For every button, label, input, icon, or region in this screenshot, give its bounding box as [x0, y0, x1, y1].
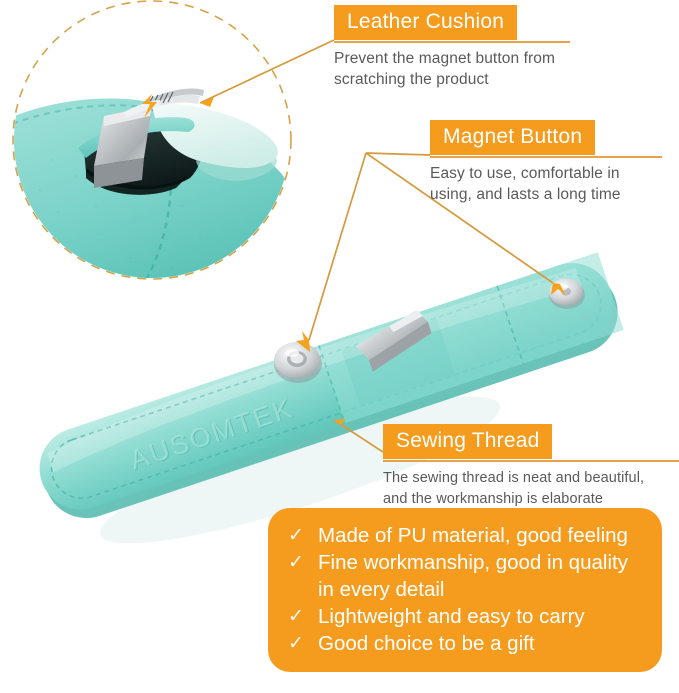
callout-desc-magnet-button: Easy to use, comfortable in using, and l… — [430, 164, 679, 205]
feature-text: Made of PU material, good feeling — [318, 522, 646, 549]
callout-sewing-thread: Sewing Thread The sewing thread is neat … — [383, 424, 679, 509]
check-icon: ✓ — [288, 630, 318, 657]
callout-rule-sewing-thread — [383, 460, 679, 462]
callout-magnet-button: Magnet Button Easy to use, comfortable i… — [430, 120, 679, 205]
check-icon: ✓ — [288, 522, 318, 549]
feature-text: Fine workmanship, good in quality in eve… — [318, 549, 646, 603]
inset-photo-content — [0, 0, 300, 300]
feature-item: ✓ Lightweight and easy to carry — [288, 603, 646, 630]
callout-title-leather-cushion: Leather Cushion — [334, 5, 517, 40]
callout-title-magnet-button: Magnet Button — [430, 120, 595, 155]
callout-rule-magnet-button — [430, 156, 662, 158]
callout-desc-sewing-thread: The sewing thread is neat and beautiful,… — [383, 468, 679, 509]
feature-list-panel: ✓ Made of PU material, good feeling ✓ Fi… — [268, 508, 662, 672]
feature-text: Good choice to be a gift — [318, 630, 646, 657]
check-icon: ✓ — [288, 603, 318, 630]
feature-item: ✓ Fine workmanship, good in quality in e… — [288, 549, 646, 603]
check-icon: ✓ — [288, 549, 318, 576]
callout-rule-leather-cushion — [334, 41, 570, 43]
callout-desc-leather-cushion: Prevent the magnet button from scratchin… — [334, 49, 634, 90]
feature-item: ✓ Good choice to be a gift — [288, 630, 646, 657]
infographic-canvas: AUSOMTEK AUSOMTEK — [0, 0, 679, 693]
callout-leather-cushion: Leather Cushion Prevent the magnet butto… — [334, 5, 634, 90]
callout-title-sewing-thread: Sewing Thread — [383, 424, 552, 459]
feature-text: Lightweight and easy to carry — [318, 603, 646, 630]
feature-item: ✓ Made of PU material, good feeling — [288, 522, 646, 549]
